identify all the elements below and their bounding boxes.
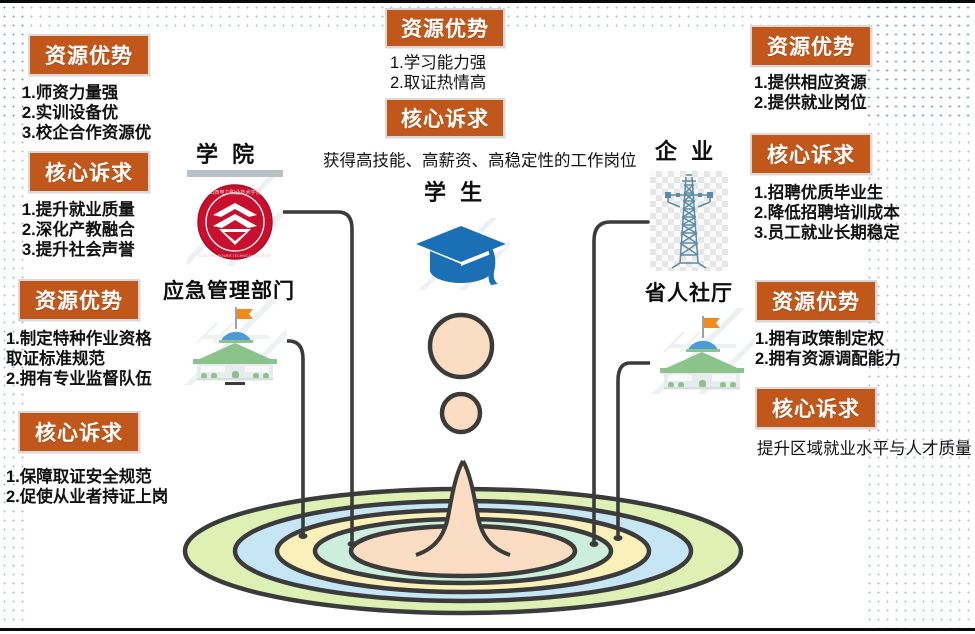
- government-building-icon-hr: [650, 308, 754, 394]
- entity-title-hr: 省人社厅: [645, 277, 733, 307]
- chip-emergency-demand: 核心诉求: [18, 411, 140, 453]
- chip-college-resource: 资源优势: [28, 34, 150, 76]
- graduation-cap-icon: [412, 218, 510, 290]
- government-building-icon: [183, 299, 287, 385]
- bullet-line: 1.学习能力强: [390, 53, 590, 73]
- bullet-line: 1.师资力量强: [22, 83, 212, 103]
- bullets-enterprise-demand: 1.招聘优质毕业生2.降低招聘培训成本3.员工就业长期稳定: [754, 183, 974, 243]
- entity-title-enterprise: 企 业: [655, 134, 717, 166]
- bullet-line: 2.取证热情高: [390, 73, 590, 93]
- bullets-college-resource: 1.师资力量强2.实训设备优3.校企合作资源优: [22, 83, 212, 143]
- chip-student-demand: 核心诉求: [385, 98, 505, 138]
- bullet-line: 2.拥有专业监督队伍: [6, 369, 206, 389]
- bullet-line: 3.提升社会声誉: [22, 240, 212, 260]
- bullet-line: 1.制定特种作业资格: [6, 329, 206, 349]
- bullet-line: 1.保障取证安全规范: [6, 467, 216, 487]
- chip-hr-demand: 核心诉求: [755, 387, 877, 429]
- chip-student-resource: 资源优势: [385, 8, 505, 48]
- svg-text:山西电力职业技术学院: 山西电力职业技术学院: [209, 188, 262, 196]
- bullet-line: 2.降低招聘培训成本: [754, 203, 974, 223]
- chip-enterprise-demand: 核心诉求: [750, 133, 872, 175]
- chip-hr-resource: 资源优势: [755, 280, 877, 322]
- chip-enterprise-resource: 资源优势: [750, 25, 872, 67]
- bullet-line: 3.员工就业长期稳定: [754, 223, 974, 243]
- chip-emergency-resource: 资源优势: [18, 279, 140, 321]
- bullets-hr-resource: 1.拥有政策制定权2.拥有资源调配能力: [755, 329, 975, 369]
- bullet-line: 1.拥有政策制定权: [755, 329, 975, 349]
- bullets-college-demand: 1.提升就业质量2.深化产教融合3.提升社会声誉: [22, 200, 212, 260]
- bullets-emergency-resource: 1.制定特种作业资格 取证标准规范2.拥有专业监督队伍: [6, 329, 206, 389]
- bullet-line: 2.促使从业者持证上岗: [6, 487, 216, 507]
- statement-student-demand: 获得高技能、高薪资、高稳定性的工作岗位: [323, 147, 637, 171]
- bullet-line: 1.提供相应资源: [754, 73, 964, 93]
- chip-college-demand: 核心诉求: [28, 151, 150, 193]
- svg-text:ELECTRIC POWER TECHNICAL COLLE: ELECTRIC POWER TECHNICAL COLLEGE: [199, 254, 271, 258]
- poster-canvas: 资源优势 1.师资力量强2.实训设备优3.校企合作资源优 核心诉求 1.提升就业…: [0, 0, 975, 631]
- bullets-enterprise-resource: 1.提供相应资源2.提供就业岗位: [754, 73, 964, 113]
- bullet-line: 2.提供就业岗位: [754, 93, 964, 113]
- bullet-line: 3.校企合作资源优: [22, 123, 212, 143]
- bullets-emergency-demand: 1.保障取证安全规范2.促使从业者持证上岗: [6, 467, 216, 507]
- bullet-line: 2.实训设备优: [22, 103, 212, 123]
- statement-hr-demand: 提升区域就业水平与人才质量: [757, 435, 972, 459]
- bullets-student-resource: 1.学习能力强2.取证热情高: [390, 53, 590, 93]
- bullet-line: 2.拥有资源调配能力: [755, 349, 975, 369]
- power-tower-icon: [650, 171, 728, 271]
- bullet-line: 取证标准规范: [6, 349, 206, 369]
- bullet-line: 1.提升就业质量: [22, 200, 212, 220]
- bullet-line: 1.招聘优质毕业生: [754, 183, 974, 203]
- entity-title-student: 学 生: [424, 175, 486, 207]
- bullet-line: 2.深化产教融合: [22, 220, 212, 240]
- entity-title-college: 学 院: [196, 137, 258, 169]
- college-seal-icon: 山西电力职业技术学院 ELECTRIC POWER TECHNICAL COLL…: [187, 170, 283, 266]
